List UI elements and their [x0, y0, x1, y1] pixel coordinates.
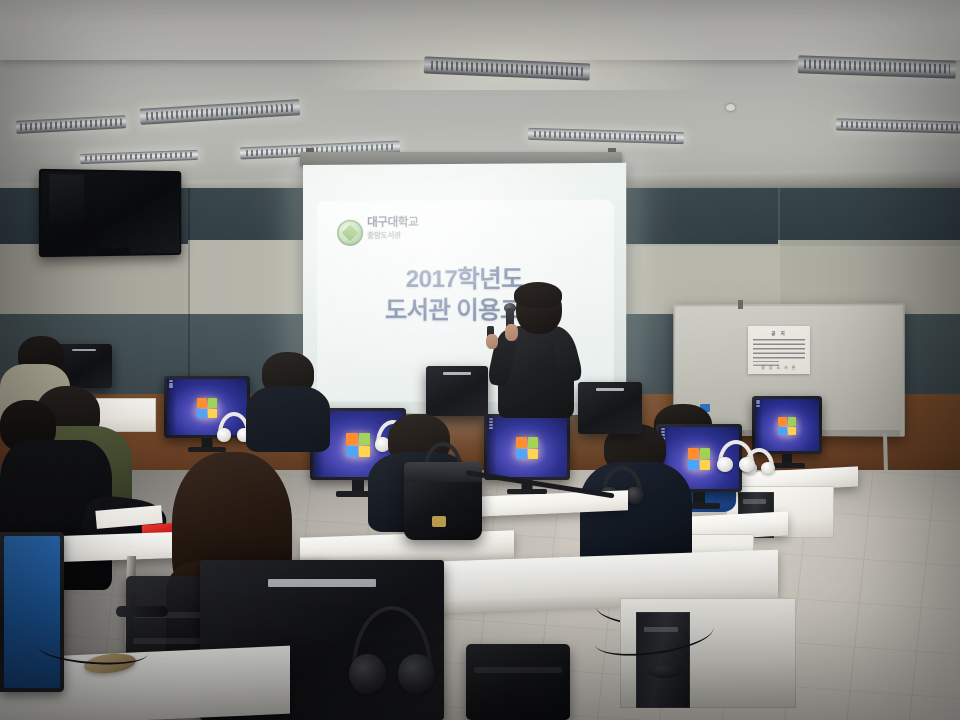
ceiling-sensor-icon — [726, 104, 735, 111]
student-torso — [246, 386, 330, 452]
panel-seam — [188, 188, 190, 400]
green-diamond-emblem-icon — [337, 220, 363, 246]
headphones-icon — [718, 440, 754, 472]
chair-icon — [466, 644, 570, 720]
ceiling-light-icon — [16, 115, 127, 134]
ceiling-light-icon — [528, 128, 684, 144]
tv-mount — [96, 248, 130, 255]
wall-tv-icon — [39, 169, 181, 257]
presenter-hand — [486, 334, 498, 349]
logo-department-name: 중앙도서관 — [367, 231, 440, 241]
presenter-hair — [514, 282, 562, 308]
mouse-icon — [648, 664, 682, 678]
monitor-icon — [426, 366, 488, 416]
monitor-icon — [0, 532, 64, 692]
monitor-icon — [578, 382, 642, 434]
presenter-hand — [505, 324, 518, 341]
notice-paper: 공 지 중 앙 도 서 관 — [748, 326, 810, 374]
ceiling-light-icon — [836, 118, 960, 133]
monitor-icon — [484, 414, 570, 480]
notice-footer: 중 앙 도 서 관 — [748, 365, 810, 371]
classroom-photo: 대구대학교 중앙도서관 2017학년도 도서관 이용교육 공 지 중 앙 도 서… — [0, 0, 960, 720]
logo-institution-name: 대구대학교 — [367, 216, 440, 229]
whiteboard-clip — [738, 300, 743, 309]
ceiling-light-icon — [140, 99, 301, 125]
library-logo: 대구대학교 중앙도서관 — [337, 216, 438, 250]
chair-armrest — [116, 606, 168, 617]
monitor-icon — [752, 396, 822, 454]
handbag-clasp — [432, 516, 446, 527]
notice-text-lines — [753, 339, 805, 359]
ceiling-light-icon — [80, 150, 198, 164]
headphones-icon — [352, 606, 432, 694]
notice-header: 공 지 — [748, 331, 810, 337]
